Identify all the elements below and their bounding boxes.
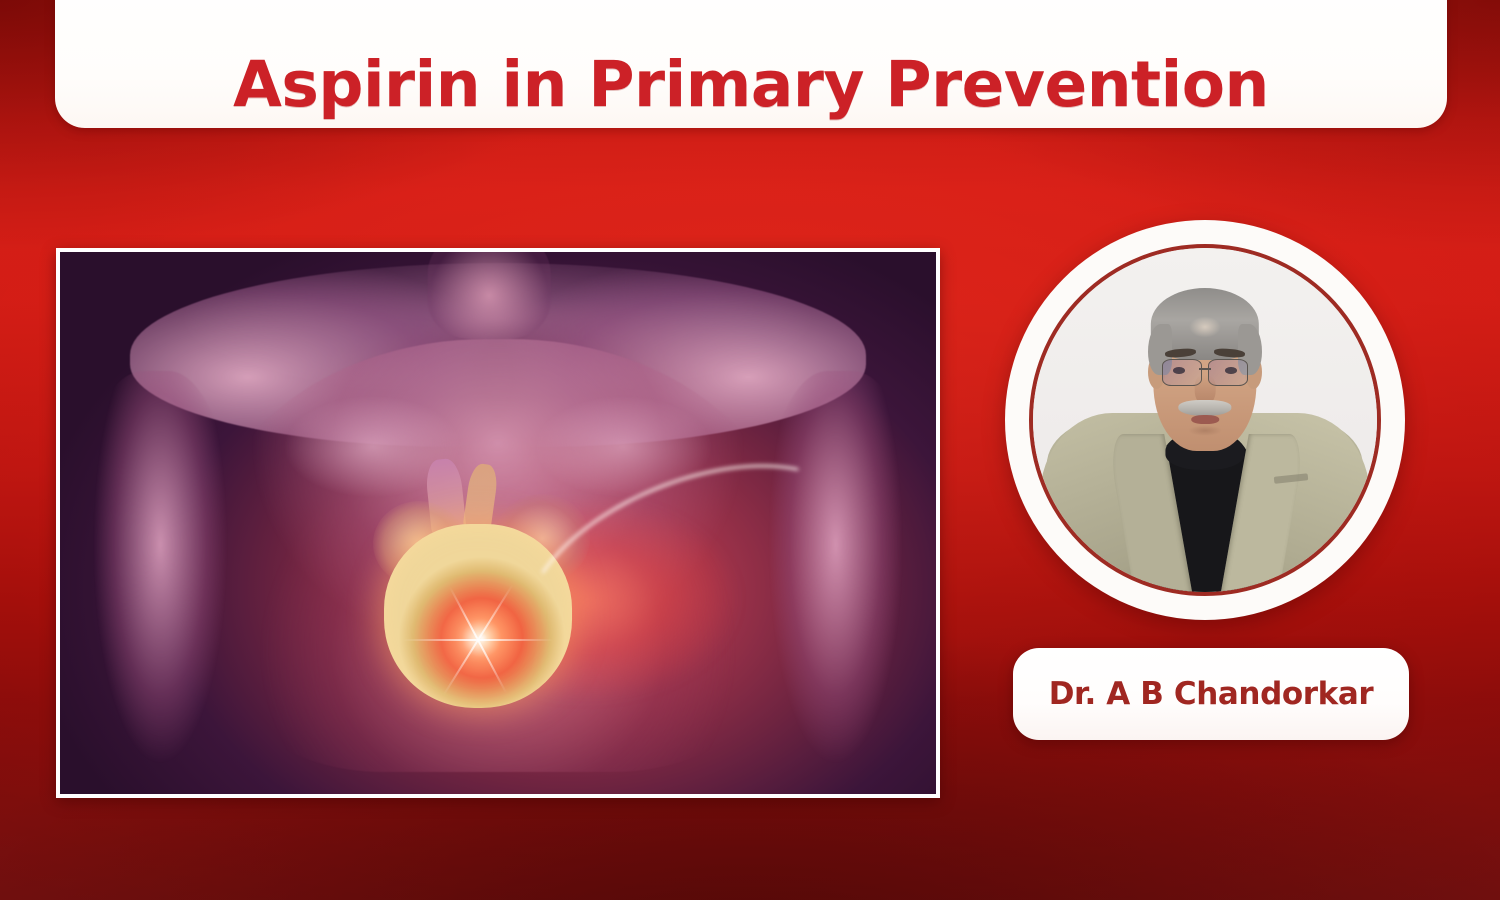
heart-vessel-pulmonary <box>463 462 500 530</box>
title-banner: Aspirin in Primary Prevention <box>55 0 1447 128</box>
speaker-photo <box>1033 248 1377 592</box>
poster-canvas: Aspirin in Primary Prevention <box>0 0 1500 900</box>
page-title: Aspirin in Primary Prevention <box>233 53 1269 116</box>
speaker-name: Dr. A B Chandorkar <box>1049 676 1374 712</box>
portrait-moustache <box>1178 400 1231 416</box>
portrait-chin-shadow <box>1183 425 1228 439</box>
hero-image-torso-heart <box>60 252 936 794</box>
torso-neck <box>428 252 551 339</box>
avatar-ring-border <box>1029 244 1381 596</box>
glasses-bridge-icon <box>1199 368 1211 369</box>
portrait-mouth <box>1191 415 1219 424</box>
speaker-name-plate: Dr. A B Chandorkar <box>1013 648 1409 740</box>
speaker-avatar <box>1005 220 1405 620</box>
heart-light-flare <box>476 638 479 641</box>
hero-image-frame <box>56 248 940 798</box>
portrait-forehead-highlight <box>1184 313 1225 341</box>
